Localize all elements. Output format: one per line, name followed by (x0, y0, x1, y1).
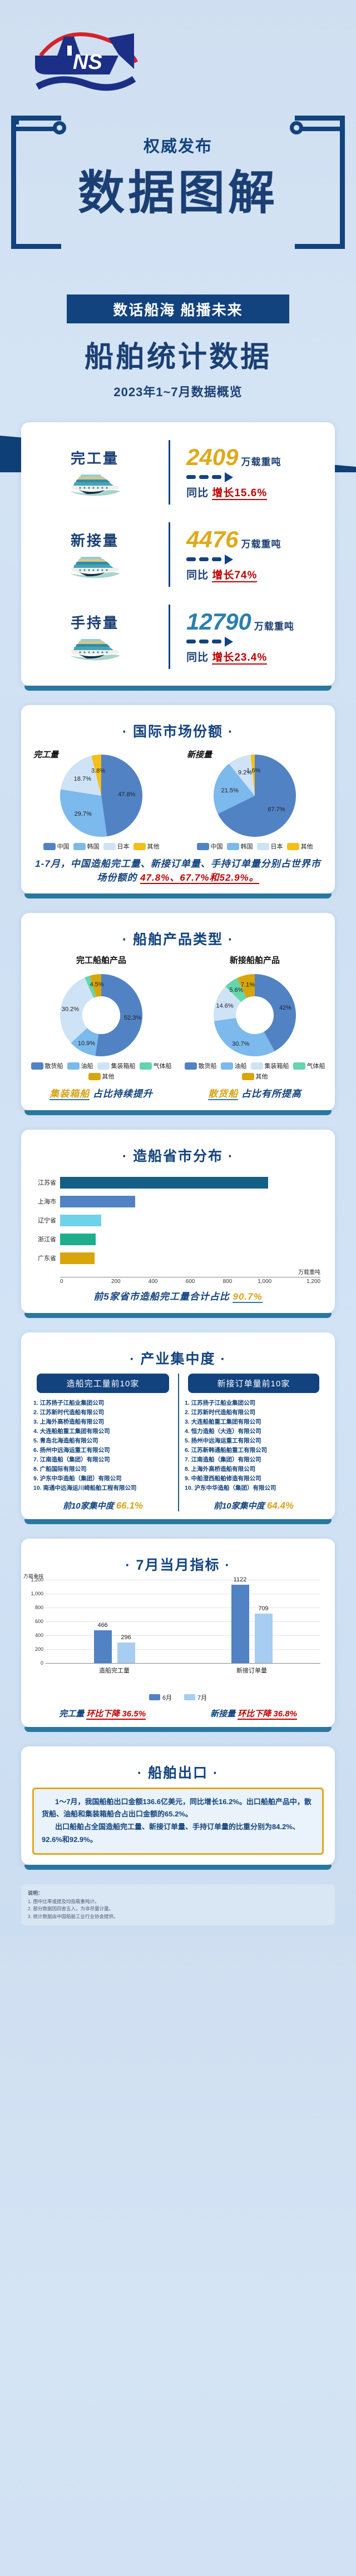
pie-legend-completion: 中国韩国日本其他 (24, 842, 178, 851)
axis-tick: 1,000 (31, 1591, 43, 1596)
monthly-title: · 7月当月指标 · (21, 1554, 335, 1574)
frame-tick-icon (11, 116, 19, 124)
legend-label: 日本 (117, 842, 130, 851)
donut-legend-completion: 散货船油船集装箱船气体船其他 (24, 1061, 178, 1081)
kpi-row: 手持量 12790万载重吨 同比 增长23.4% (21, 596, 335, 678)
kpi-left: 新接量 (21, 527, 169, 582)
monthly-card: · 7月当月指标 · 万载重吨 1,2001,0008006004002000 … (21, 1539, 335, 1727)
legend-label: 韩国 (241, 842, 253, 851)
legend-item: 其他 (88, 1072, 115, 1081)
legend-swatch (287, 843, 299, 850)
export-text-box: 1～7月，我国船舶出口金额136.6亿美元，同比增长16.2%。出口船舶产品中，… (32, 1788, 324, 1855)
kpi-comparison: 同比 增长23.4% (186, 649, 335, 664)
list-item: 10. 南通中远海运川崎船舶工程有限公司 (33, 1484, 175, 1493)
card-footer-bar (24, 1110, 332, 1115)
legend-label: 集装箱船 (265, 1061, 289, 1070)
card-footer-bar (24, 1519, 332, 1524)
legend-swatch (133, 843, 146, 850)
kpi-divider (169, 440, 170, 505)
svg-text:52.3%: 52.3% (124, 1015, 141, 1021)
market-share-card: · 国际市场份额 · 完工量 47.8%29.7%18.7%3.8% 中国韩国日… (21, 705, 335, 893)
axis-tick: 600 (172, 1279, 209, 1285)
export-paragraph-2: 出口船舶占全国造船完工量、新接订单量、手持订单量的比重分别为84.2%、92.6… (42, 1821, 314, 1846)
svg-text:21.5%: 21.5% (221, 787, 239, 794)
legend-label: 韩国 (87, 842, 100, 851)
list-item: 6. 江苏新韩通船舶重工有限公司 (185, 1446, 325, 1455)
legend-label: 其他 (102, 1072, 115, 1081)
export-paragraph-1: 1～7月，我国船舶出口金额136.6亿美元，同比增长16.2%。出口船舶产品中，… (42, 1796, 314, 1821)
svg-text:1.6%: 1.6% (246, 767, 260, 774)
province-bar-chart: 江苏省 上海市 辽宁省 浙江省 广东省 (21, 1171, 335, 1267)
concentration-left-column: 造船完工量前10家 1. 江苏扬子江船业集团公司2. 江苏新时代造船有限公司3.… (28, 1374, 178, 1511)
list-item: 2. 江苏新时代造船有限公司 (185, 1408, 325, 1417)
legend-item: 气体船 (293, 1061, 325, 1070)
bar: 709 (255, 1614, 273, 1663)
axis-tick: 200 (35, 1646, 43, 1652)
export-card: · 船舶出口 · 1～7月，我国船舶出口金额136.6亿美元，同比增长16.2%… (21, 1746, 335, 1865)
bar-track (60, 1211, 320, 1230)
legend-item: 其他 (133, 842, 160, 851)
monthly-bars: 4662961122709 (46, 1580, 320, 1663)
legend-swatch (251, 1062, 263, 1070)
monthly-caption-left: 完工量 环比下降 36.5% (59, 1708, 146, 1719)
list-item: 10. 沪东中华造船（集团）有限公司 (185, 1484, 325, 1493)
bar: 1122 (231, 1585, 249, 1663)
card-footer-bar (24, 1865, 332, 1870)
axis-tick: 1,200 (283, 1279, 320, 1285)
legend-item: 散货船 (31, 1061, 63, 1070)
axis-tick: 0 (60, 1279, 97, 1285)
concentration-card: · 产业集中度 · 造船完工量前10家 1. 江苏扬子江船业集团公司2. 江苏新… (21, 1332, 335, 1519)
concentration-left-pill[interactable]: 造船完工量前10家 (37, 1374, 169, 1393)
pie-completion-label: 完工量 (33, 748, 58, 760)
bar-fill (60, 1196, 135, 1207)
bar-row: 上海市 (29, 1192, 320, 1211)
legend-label: 气体船 (307, 1061, 325, 1070)
pie-legend-neworder: 中国韩国日本其他 (178, 842, 332, 851)
product-type-title: · 船舶产品类型 · (21, 928, 335, 948)
legend-label: 日本 (271, 842, 283, 851)
pie-completion-column: 完工量 47.8%29.7%18.7%3.8% 中国韩国日本其他 (24, 746, 178, 851)
donut-chart-completion: 52.3%10.9%30.2%4.5% (60, 974, 143, 1057)
card-footer-bar (24, 893, 332, 898)
bar-row: 浙江省 (29, 1230, 320, 1249)
ship-icon (62, 469, 128, 498)
legend-item: 集装箱船 (251, 1061, 289, 1070)
kpi-label: 新接量 (21, 530, 169, 550)
axis-tick: 400 (35, 1633, 43, 1638)
ship-icon (62, 633, 128, 662)
legend-label: 中国 (57, 842, 70, 851)
legend-label: 散货船 (199, 1061, 217, 1070)
kpi-comparison: 同比 增长74% (186, 567, 335, 582)
bar: 466 (94, 1630, 112, 1663)
axis-category-label: 造船完工量 (46, 1664, 183, 1675)
legend-item: 散货船 (185, 1061, 217, 1070)
province-title: · 造船省市分布 · (21, 1145, 335, 1165)
svg-text:29.7%: 29.7% (75, 811, 92, 817)
cansi-logo-icon: NS (25, 21, 147, 96)
list-item: 8. 广船国际有限公司 (33, 1465, 175, 1474)
footer-notes-title: 说明： (28, 1889, 328, 1896)
legend-item: 其他 (242, 1072, 268, 1081)
card-footer-bar (24, 1727, 332, 1732)
legend-swatch (227, 843, 239, 850)
bar-category-label: 上海市 (29, 1197, 60, 1206)
footer-note-item: 2. 部分数据因四舍五入，为非尽量计量。 (28, 1905, 328, 1913)
legend-item: 7月 (184, 1693, 207, 1702)
legend-swatch (197, 843, 209, 850)
list-item: 1. 江苏扬子江船业集团公司 (33, 1399, 175, 1408)
kpi-right: 4476万载重吨 同比 增长74% (169, 528, 335, 582)
concentration-title: · 产业集中度 · (21, 1348, 335, 1368)
kpi-unit: 万载重吨 (241, 457, 281, 467)
svg-text:NS: NS (73, 51, 102, 74)
kpi-comparison: 同比 增长15.6% (186, 485, 335, 500)
legend-item: 油船 (221, 1061, 247, 1070)
pie-chart-neworder: 67.7%21.5%9.2%1.6% (213, 754, 296, 837)
axis-tick: 800 (35, 1605, 43, 1610)
footer-note-item: 1. 图中比率或提及均指载重吨计。 (28, 1898, 328, 1906)
kpi-row: 新接量 4476万载重吨 同比 增长74% (21, 513, 335, 596)
legend-label: 其他 (301, 842, 313, 851)
donut-completion-caption: 集装箱船 占比持续提升 (24, 1081, 178, 1102)
kpi-value: 4476 (186, 528, 238, 551)
list-item: 4. 恒力造船（大连）有限公司 (185, 1427, 325, 1436)
legend-item: 气体船 (140, 1061, 172, 1070)
market-share-wrapper: · 国际市场份额 · 完工量 47.8%29.7%18.7%3.8% 中国韩国日… (21, 705, 335, 898)
legend-item: 中国 (197, 842, 223, 851)
legend-label: 集装箱船 (111, 1061, 136, 1070)
legend-label: 油船 (81, 1061, 93, 1070)
donut-neworder-column: 新接船舶产品 42%30.7%14.6%5.6%7.1% 散货船油船集装箱船气体… (178, 954, 332, 1102)
province-x-axis: 02004006008001,0001,200 (60, 1277, 320, 1284)
kpi-value: 12790 (186, 610, 251, 633)
monthly-y-axis: 1,2001,0008006004002000 (23, 1580, 44, 1663)
province-card: · 造船省市分布 · 江苏省 上海市 辽宁省 浙江省 广东省 万载重吨 0200… (21, 1130, 335, 1313)
bar-track (60, 1192, 320, 1211)
svg-text:47.8%: 47.8% (118, 791, 135, 798)
donut-neworder-caption: 散货船 占比有所提高 (178, 1081, 332, 1102)
axis-tick: 1,000 (246, 1279, 283, 1285)
legend-label: 油船 (235, 1061, 247, 1070)
axis-tick: 400 (135, 1279, 172, 1285)
legend-swatch (140, 1062, 152, 1070)
infographic-page: NS 权威发布 数据图解 数话船海 船播未来 船舶统计数据 2023年1~7月数… (0, 0, 356, 1935)
legend-swatch (97, 1062, 110, 1070)
list-item: 9. 沪东中华造船（集团）有限公司 (33, 1474, 175, 1484)
legend-swatch (43, 843, 56, 850)
kpi-card: 完工量 2409万载重吨 同比 增长15.6% 新接量 (21, 422, 335, 686)
legend-label: 其他 (256, 1072, 268, 1081)
kpi-left: 完工量 (21, 445, 169, 500)
legend-swatch (185, 1062, 197, 1070)
donut-neworder-label: 新接船舶产品 (178, 954, 332, 966)
hero-section: NS 权威发布 数据图解 数话船海 船播未来 船舶统计数据 2023年1~7月数… (0, 0, 356, 422)
monthly-bar-chart: 万载重吨 1,2001,0008006004002000 46629611227… (46, 1580, 320, 1679)
monthly-wrapper: · 7月当月指标 · 万载重吨 1,2001,0008006004002000 … (21, 1539, 335, 1732)
frame-connector-right (301, 127, 340, 131)
ship-icon (62, 551, 128, 580)
legend-swatch (73, 843, 86, 850)
legend-swatch (103, 843, 116, 850)
axis-category-label: 新接订单量 (183, 1664, 320, 1675)
kpi-right: 2409万载重吨 同比 增长15.6% (169, 446, 335, 500)
legend-swatch (242, 1073, 254, 1080)
bar-fill (60, 1234, 96, 1245)
list-item: 7. 江南造船（集团）有限公司 (33, 1455, 175, 1465)
footer-notes: 说明： 1. 图中比率或提及均指载重吨计。2. 部分数据因四舍五入，为非尽量计量… (21, 1884, 335, 1926)
kpi-divider (169, 522, 170, 587)
axis-tick: 0 (41, 1660, 43, 1666)
bar-group: 466296 (46, 1580, 183, 1663)
kpi-right: 12790万载重吨 同比 增长23.4% (169, 610, 335, 664)
legend-swatch (221, 1062, 233, 1070)
legend-label: 散货船 (45, 1061, 63, 1070)
bar-track (60, 1230, 320, 1249)
monthly-caption-right: 新接量 环比下降 36.8% (210, 1708, 297, 1719)
list-item: 7. 江南造船（集团）有限公司 (185, 1455, 325, 1465)
axis-tick: 1,200 (31, 1577, 43, 1582)
legend-swatch (184, 1694, 195, 1700)
svg-text:18.7%: 18.7% (74, 776, 91, 782)
hero-title: 数据图解 (0, 169, 356, 216)
bar-fill (60, 1215, 101, 1226)
kpi-label: 完工量 (21, 447, 169, 468)
list-item: 3. 上海外高桥造船有限公司 (33, 1417, 175, 1427)
product-type-wrapper: · 船舶产品类型 · 完工船舶产品 52.3%10.9%30.2%4.5% 散货… (21, 913, 335, 1115)
donut-chart-neworder: 42%30.7%14.6%5.6%7.1% (213, 974, 296, 1057)
bar: 296 (117, 1643, 135, 1663)
bar-group: 1122709 (183, 1580, 320, 1663)
frame-node-left-icon (53, 121, 66, 134)
legend-item: 日本 (103, 842, 130, 851)
card-footer-bar (24, 686, 332, 691)
bar-row: 江苏省 (29, 1173, 320, 1192)
svg-text:42%: 42% (279, 1005, 291, 1011)
list-item: 6. 扬州中远海运重工有限公司 (33, 1446, 175, 1455)
kpi-value: 2409 (186, 446, 238, 469)
list-item: 9. 中船澄西船舶修造有限公司 (185, 1474, 325, 1484)
kpi-arrow-icon (186, 472, 335, 482)
concentration-left-footer: 前10家集中度 66.1% (31, 1500, 175, 1511)
bar-category-label: 广东省 (29, 1254, 60, 1262)
legend-swatch (149, 1694, 160, 1700)
list-item: 4. 大连船舶重工集团有限公司 (33, 1427, 175, 1436)
legend-item: 集装箱船 (97, 1061, 136, 1070)
kpi-arrow-icon (186, 555, 335, 565)
legend-item: 6月 (149, 1693, 172, 1702)
bar-fill (60, 1177, 268, 1189)
legend-label: 气体船 (154, 1061, 172, 1070)
concentration-right-column: 新接订单量前10家 1. 江苏扬子江船业集团公司2. 江苏新时代造船有限公司3.… (178, 1374, 328, 1511)
page-subtitle: 2023年1~7月数据概览 (0, 382, 356, 400)
legend-swatch (88, 1073, 101, 1080)
bar-value-label: 296 (121, 1634, 131, 1641)
province-caption: 前5家省市造船完工量合计占比 90.7% (21, 1284, 335, 1305)
donut-completion-column: 完工船舶产品 52.3%10.9%30.2%4.5% 散货船油船集装箱船气体船其… (24, 954, 178, 1102)
kpi-left: 手持量 (21, 610, 169, 665)
concentration-right-pill[interactable]: 新接订单量前10家 (188, 1374, 319, 1393)
frame-connector-left (16, 127, 55, 131)
list-item: 2. 江苏新时代造船有限公司 (33, 1408, 175, 1417)
svg-text:7.1%: 7.1% (241, 982, 255, 989)
hero-slogan: 数话船海 船播未来 (67, 294, 289, 323)
monthly-x-axis: 造船完工量新接订单量 (46, 1663, 320, 1675)
kpi-row: 完工量 2409万载重吨 同比 增长15.6% (21, 431, 335, 513)
list-item: 1. 江苏扬子江船业集团公司 (185, 1399, 325, 1408)
kpi-arrow-icon (186, 637, 335, 647)
list-item: 5. 扬州中远海运重工有限公司 (185, 1436, 325, 1446)
svg-text:4.5%: 4.5% (90, 981, 103, 988)
svg-text:14.6%: 14.6% (216, 1003, 233, 1010)
svg-text:67.7%: 67.7% (268, 806, 285, 813)
legend-item: 其他 (287, 842, 313, 851)
legend-item: 中国 (43, 842, 70, 851)
footer-notes-list: 1. 图中比率或提及均指载重吨计。2. 部分数据因四舍五入，为非尽量计量。3. … (28, 1898, 328, 1921)
donut-legend-neworder: 散货船油船集装箱船气体船其他 (178, 1061, 332, 1081)
list-item: 5. 青岛北海造船有限公司 (33, 1436, 175, 1446)
kpi-card-wrapper: 完工量 2409万载重吨 同比 增长15.6% 新接量 (21, 422, 335, 691)
export-wrapper: · 船舶出口 · 1～7月，我国船舶出口金额136.6亿美元，同比增长16.2%… (21, 1746, 335, 1870)
legend-item: 韩国 (227, 842, 253, 851)
concentration-wrapper: · 产业集中度 · 造船完工量前10家 1. 江苏扬子江船业集团公司2. 江苏新… (21, 1332, 335, 1524)
top10-completion-list: 1. 江苏扬子江船业集团公司2. 江苏新时代造船有限公司3. 上海外高桥造船有限… (31, 1399, 175, 1493)
bar-row: 广东省 (29, 1249, 320, 1267)
axis-tick: 600 (35, 1619, 43, 1624)
legend-swatch (31, 1062, 43, 1070)
bar-fill (60, 1252, 95, 1264)
axis-tick: 800 (209, 1279, 246, 1285)
market-share-caption: 1-7月，中国造船完工量、新接订单量、手持订单量分别占世界市场份额的 47.8%… (21, 851, 335, 886)
export-title: · 船舶出口 · (21, 1762, 335, 1782)
legend-item: 日本 (257, 842, 283, 851)
card-footer-bar (24, 1313, 332, 1318)
bar-category-label: 浙江省 (29, 1235, 60, 1244)
market-share-title: · 国际市场份额 · (21, 721, 335, 741)
legend-label: 中国 (211, 842, 223, 851)
legend-swatch (257, 843, 269, 850)
kpi-divider (169, 605, 170, 669)
hero-kicker: 权威发布 (0, 133, 356, 157)
footer-note-item: 3. 统计数据由中国船舶工业行业协会提供。 (28, 1913, 328, 1921)
axis-tick: 200 (97, 1279, 135, 1285)
province-wrapper: · 造船省市分布 · 江苏省 上海市 辽宁省 浙江省 广东省 万载重吨 0200… (21, 1130, 335, 1318)
svg-text:30.2%: 30.2% (62, 1006, 79, 1013)
list-item: 3. 大连船舶重工集团有限公司 (185, 1417, 325, 1427)
top10-neworder-list: 1. 江苏扬子江船业集团公司2. 江苏新时代造船有限公司3. 大连船舶重工集团有… (182, 1399, 325, 1493)
bar-track (60, 1173, 320, 1192)
svg-text:3.8%: 3.8% (91, 767, 105, 774)
legend-label: 其他 (147, 842, 160, 851)
legend-item: 油船 (67, 1061, 93, 1070)
concentration-right-footer: 前10家集中度 64.4% (182, 1500, 325, 1511)
monthly-legend: 6月7月 (21, 1693, 335, 1702)
legend-swatch (293, 1062, 305, 1070)
pie-chart-completion: 47.8%29.7%18.7%3.8% (60, 754, 143, 837)
legend-item: 韩国 (73, 842, 100, 851)
bar-category-label: 江苏省 (29, 1178, 60, 1187)
bar-track (60, 1249, 320, 1267)
bar-category-label: 辽宁省 (29, 1216, 60, 1225)
legend-swatch (67, 1062, 80, 1070)
kpi-label: 手持量 (21, 612, 169, 632)
kpi-unit: 万载重吨 (241, 539, 281, 550)
bar-value-label: 1122 (234, 1576, 247, 1583)
pie-neworder-column: 新接量 67.7%21.5%9.2%1.6% 中国韩国日本其他 (178, 746, 332, 851)
province-unit-label: 万载重吨 (21, 1267, 335, 1276)
svg-text:10.9%: 10.9% (78, 1040, 95, 1047)
donut-completion-label: 完工船舶产品 (24, 954, 178, 966)
kpi-unit: 万载重吨 (254, 621, 294, 632)
product-type-card: · 船舶产品类型 · 完工船舶产品 52.3%10.9%30.2%4.5% 散货… (21, 913, 335, 1110)
pie-neworder-label: 新接量 (187, 748, 212, 760)
page-title: 船舶统计数据 (0, 333, 356, 375)
bar-row: 辽宁省 (29, 1211, 320, 1230)
list-item: 8. 上海外高桥造船有限公司 (185, 1465, 325, 1474)
bar-value-label: 709 (258, 1605, 268, 1612)
frame-node-right-icon (290, 121, 303, 134)
svg-text:30.7%: 30.7% (232, 1041, 249, 1047)
bar-value-label: 466 (97, 1622, 107, 1629)
